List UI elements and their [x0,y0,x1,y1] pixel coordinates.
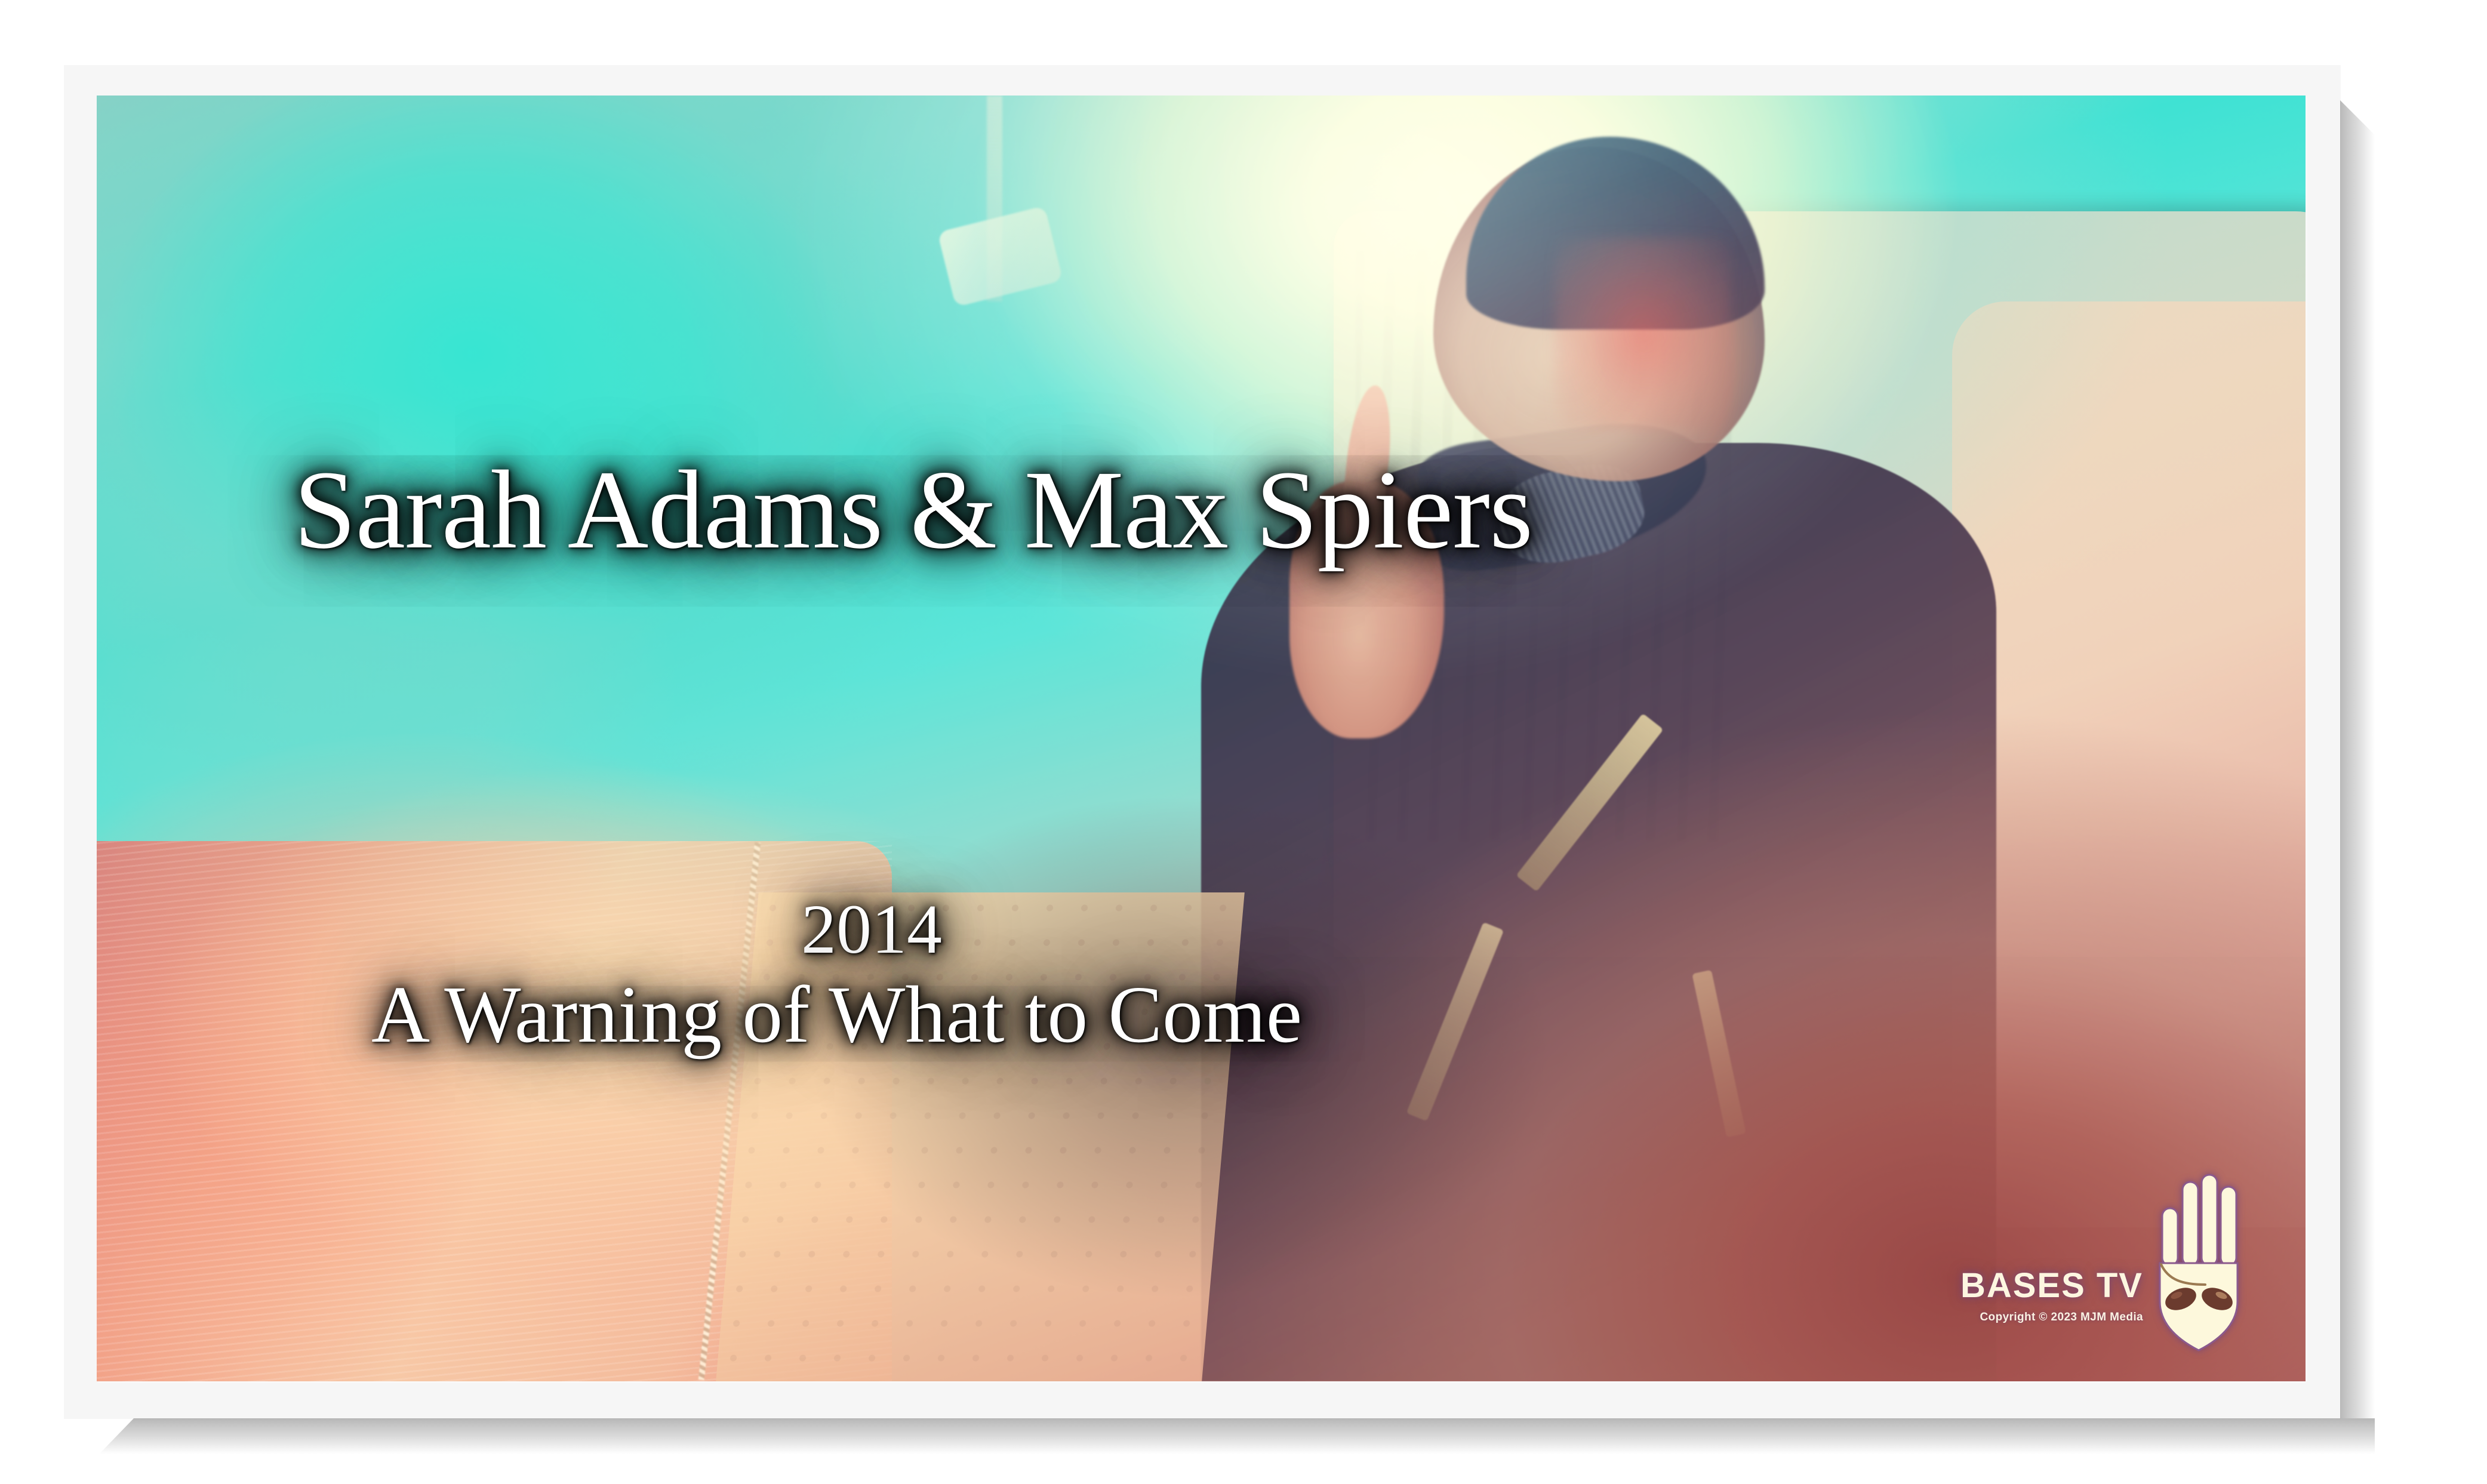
watermark-text-block: BASES TV Copyright © 2023 MJM Media [1960,1269,2143,1353]
frame-shadow-bottom [99,1418,2375,1454]
copyright-notice: Copyright © 2023 MJM Media [1980,1311,2143,1323]
picture-frame: Sarah Adams & Max Spiers 2014 A Warning … [64,66,2340,1418]
alien-hand-icon [2148,1174,2248,1353]
photo-bevel: Sarah Adams & Max Spiers 2014 A Warning … [97,96,2306,1381]
screen-canvas: Sarah Adams & Max Spiers 2014 A Warning … [0,0,2487,1484]
brand-name: BASES TV [1960,1269,2143,1303]
bases-tv-watermark[interactable]: BASES TV Copyright © 2023 MJM Media [1960,1174,2248,1353]
frame-shadow-right [2340,100,2375,1454]
